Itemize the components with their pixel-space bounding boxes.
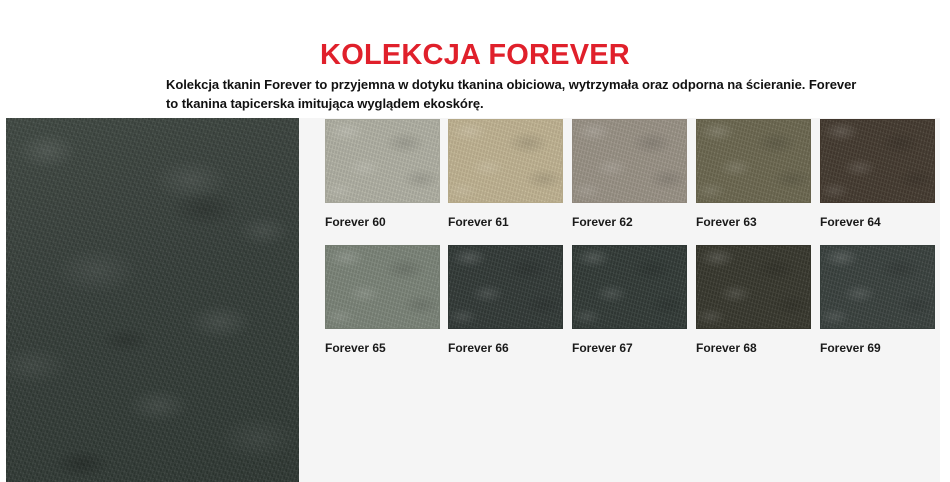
swatch-item[interactable]: Forever 68 (696, 245, 811, 329)
swatch-color-chip[interactable] (572, 119, 687, 203)
swatch-color-chip[interactable] (696, 245, 811, 329)
swatch-texture-overlay (697, 246, 810, 328)
swatch-item[interactable]: Forever 62 (572, 119, 687, 203)
swatch-texture-overlay (449, 120, 562, 202)
swatch-texture-overlay (821, 120, 934, 202)
swatch-grid: Forever 60 Forever 61 Forever 62 Forever… (325, 119, 940, 371)
swatch-label: Forever 65 (325, 341, 455, 355)
swatch-texture-overlay (697, 120, 810, 202)
swatch-item[interactable]: Forever 64 (820, 119, 935, 203)
swatch-label: Forever 67 (572, 341, 702, 355)
swatch-row: Forever 60 Forever 61 Forever 62 Forever… (325, 119, 940, 245)
swatch-texture-overlay (326, 120, 439, 202)
swatch-texture-overlay (449, 246, 562, 328)
swatch-color-chip[interactable] (448, 245, 563, 329)
swatch-label: Forever 62 (572, 215, 702, 229)
swatch-texture-overlay (821, 246, 934, 328)
swatch-color-chip[interactable] (325, 119, 440, 203)
swatch-label: Forever 66 (448, 341, 578, 355)
page-header: KOLEKCJA FOREVER Kolekcja tkanin Forever… (0, 0, 950, 118)
swatch-label: Forever 69 (820, 341, 950, 355)
swatch-texture-overlay (326, 246, 439, 328)
swatch-color-chip[interactable] (696, 119, 811, 203)
swatch-label: Forever 64 (820, 215, 950, 229)
content-area: Forever 60 Forever 61 Forever 62 Forever… (0, 118, 950, 482)
swatch-label: Forever 61 (448, 215, 578, 229)
right-margin-strip (940, 118, 950, 482)
swatch-color-chip[interactable] (572, 245, 687, 329)
swatch-item[interactable]: Forever 67 (572, 245, 687, 329)
swatch-color-chip[interactable] (448, 119, 563, 203)
swatch-label: Forever 60 (325, 215, 455, 229)
swatch-texture-overlay (573, 120, 686, 202)
hero-fabric-image[interactable] (6, 118, 299, 482)
swatch-item[interactable]: Forever 69 (820, 245, 935, 329)
swatch-row: Forever 65 Forever 66 Forever 67 Forever… (325, 245, 940, 371)
page-title: KOLEKCJA FOREVER (0, 38, 950, 72)
swatch-color-chip[interactable] (820, 245, 935, 329)
swatch-item[interactable]: Forever 60 (325, 119, 440, 203)
swatch-item[interactable]: Forever 61 (448, 119, 563, 203)
swatch-item[interactable]: Forever 65 (325, 245, 440, 329)
swatch-texture-overlay (573, 246, 686, 328)
swatch-color-chip[interactable] (325, 245, 440, 329)
fabric-collection-page: KOLEKCJA FOREVER Kolekcja tkanin Forever… (0, 0, 950, 482)
swatch-label: Forever 63 (696, 215, 826, 229)
swatch-item[interactable]: Forever 66 (448, 245, 563, 329)
hero-fabric-texture (6, 118, 299, 482)
swatch-label: Forever 68 (696, 341, 826, 355)
swatch-color-chip[interactable] (820, 119, 935, 203)
collection-description: Kolekcja tkanin Forever to przyjemna w d… (166, 75, 866, 113)
swatch-item[interactable]: Forever 63 (696, 119, 811, 203)
